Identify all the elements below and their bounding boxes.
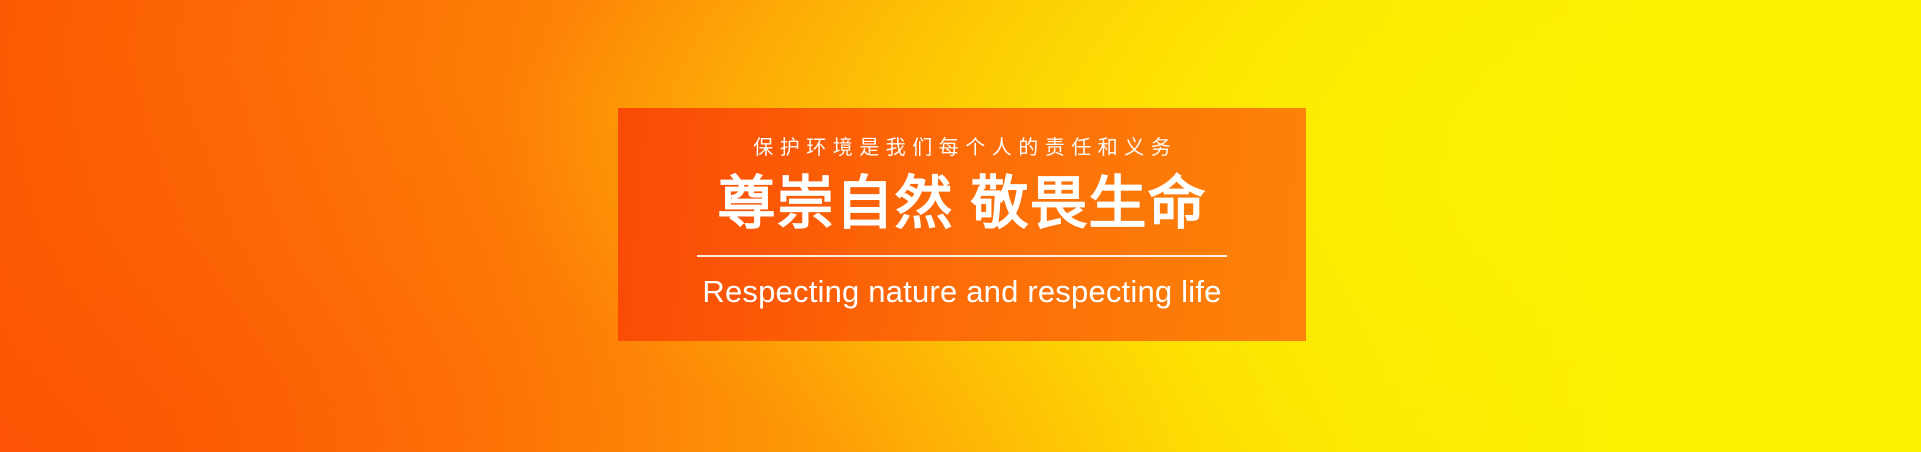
panel-subtitle: Respecting nature and respecting life	[702, 276, 1221, 307]
environmental-awareness-banner: 保护环境是我们每个人的责任和义务 尊崇自然 敬畏生命 Respecting na…	[0, 0, 1921, 452]
panel-divider	[697, 255, 1227, 257]
panel-tagline: 保护环境是我们每个人的责任和义务	[747, 138, 1178, 158]
panel-headline: 尊崇自然 敬畏生命	[717, 175, 1206, 233]
slogan-panel: 保护环境是我们每个人的责任和义务 尊崇自然 敬畏生命 Respecting na…	[618, 108, 1306, 341]
